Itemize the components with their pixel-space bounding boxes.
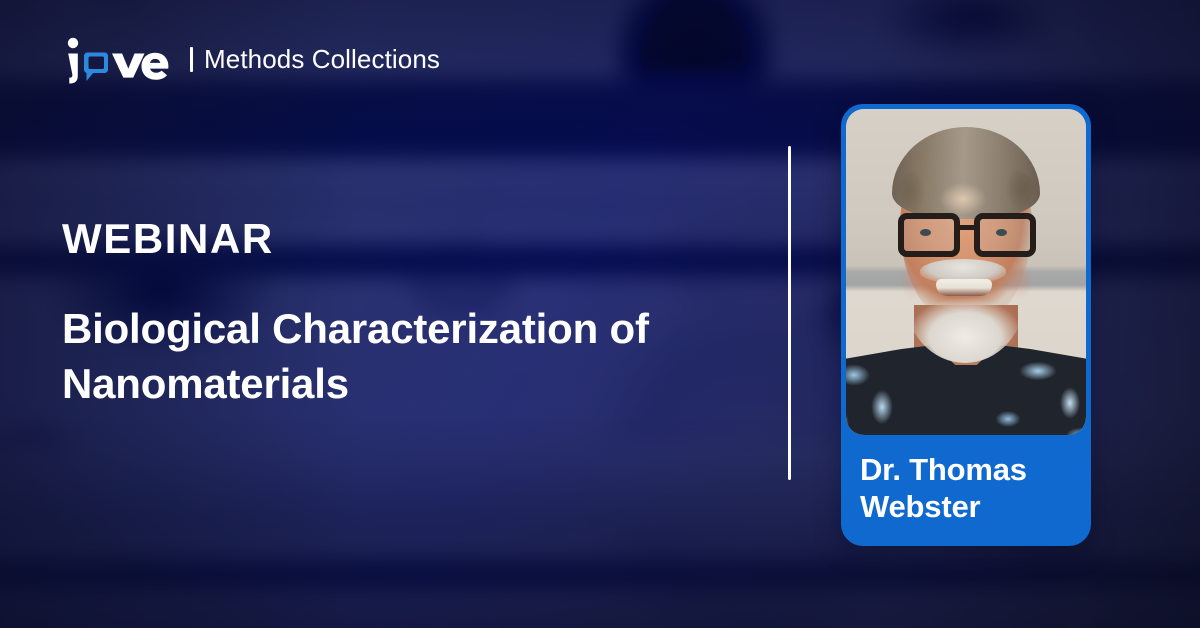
portrait-forehead-highlight: [940, 183, 986, 215]
portrait-mouth: [936, 279, 992, 296]
speaker-name-line-1: Dr. Thomas: [860, 452, 1027, 487]
speaker-name: Dr. Thomas Webster: [860, 452, 1084, 525]
header-pipe-divider: [190, 47, 193, 72]
glasses-bridge: [958, 225, 976, 230]
speaker-card[interactable]: Dr. Thomas Webster: [841, 104, 1091, 546]
jove-logo[interactable]: [62, 38, 170, 84]
header-section-label-wrap: Methods Collections: [190, 44, 440, 78]
speech-bubble-icon: [84, 53, 108, 82]
speaker-photo: [846, 109, 1086, 435]
portrait-cheek-right: [1004, 259, 1034, 299]
methods-collections-label: Methods Collections: [204, 44, 440, 75]
page-title: Biological Characterization of Nanomater…: [62, 302, 752, 411]
webinar-promo-banner: Methods Collections WEBINAR Biological C…: [0, 0, 1200, 628]
speaker-name-line-2: Webster: [860, 489, 980, 524]
vertical-divider-rule: [788, 146, 791, 480]
speaker-portrait-graphic: [846, 109, 1086, 435]
portrait-eye-left: [920, 229, 931, 236]
brand-header: Methods Collections: [62, 38, 440, 84]
portrait-eye-right: [996, 229, 1007, 236]
portrait-glasses: [896, 213, 1040, 257]
eyebrow-webinar-label: WEBINAR: [62, 218, 274, 260]
